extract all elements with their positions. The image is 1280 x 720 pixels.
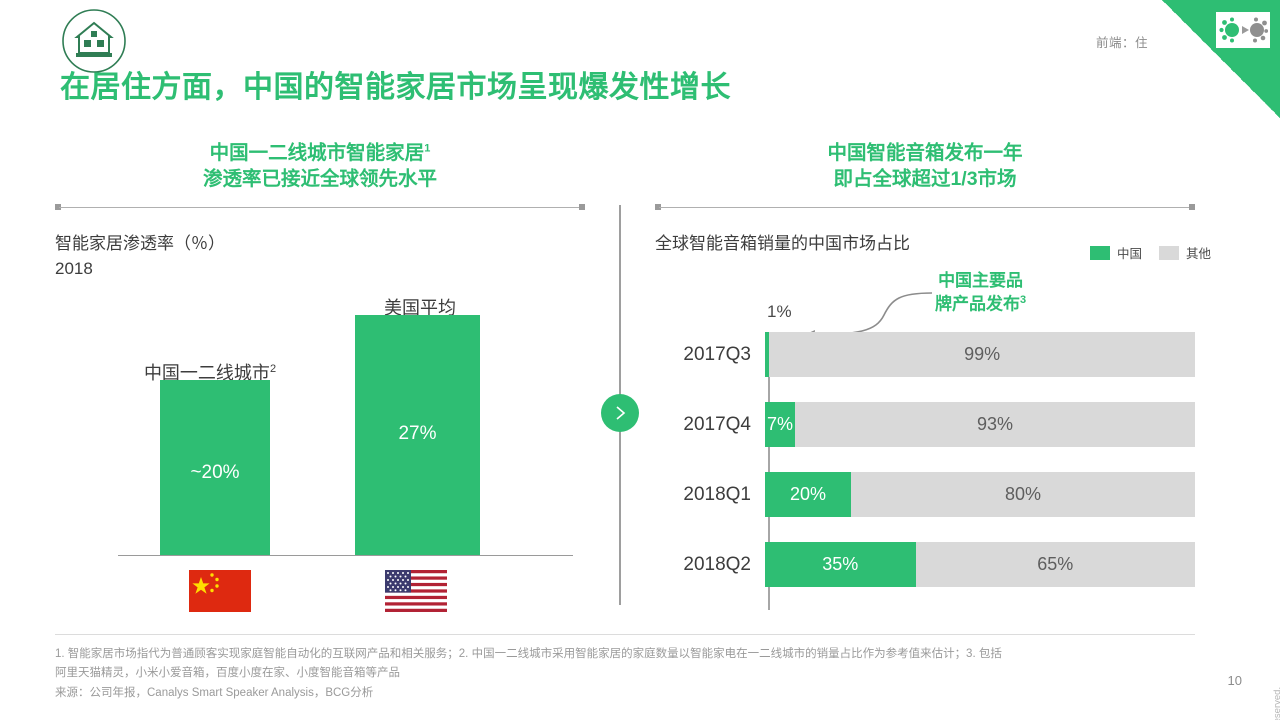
footnote-divider <box>55 634 1195 635</box>
panel-left-subtitle-line1: 智能家居渗透率（％） <box>55 231 585 257</box>
legend-swatch-other <box>1159 246 1179 260</box>
column-bar-china: ~20% <box>160 380 270 555</box>
divider-line <box>59 207 581 208</box>
page-number: 10 <box>1228 673 1242 688</box>
column-chart-axis <box>118 555 573 556</box>
footnote-line2: 阿里天猫精灵，小米小爱音箱，百度小度在家、小度智能音箱等产品 <box>55 664 1180 683</box>
bcg-logo <box>1216 12 1270 48</box>
table-row: 2017Q3 99% <box>655 332 1195 377</box>
bar-track: 99% <box>765 332 1195 377</box>
bar-segment-other: 99% <box>769 332 1195 377</box>
column-chart: 中国一二线城市2 ~20% 美国平均 27% <box>55 255 585 620</box>
panel-left-heading-sup: 1 <box>424 143 430 155</box>
bar-value-china-2017q3: 1% <box>767 302 792 322</box>
bar-track: 20% 80% <box>765 472 1195 517</box>
divider-line <box>659 207 1191 208</box>
footnote-source: 来源：公司年报，Canalys Smart Speaker Analysis，B… <box>55 684 1180 703</box>
bar-category-2017q3: 2017Q3 <box>655 344 765 366</box>
bar-segment-other: 93% <box>795 402 1195 447</box>
bar-track: 7% 93% <box>765 402 1195 447</box>
bar-category-2018q1: 2018Q1 <box>655 484 765 506</box>
legend-label-other: 其他 <box>1186 243 1211 262</box>
china-flag <box>189 570 251 612</box>
panel-right-divider <box>655 204 1195 211</box>
column-bar-value-usa: 27% <box>355 423 480 445</box>
slide-root: 前端：住 在居住方面，中国的智能家居市场呈现爆发性增长 中国一二线城市智能家居1… <box>0 0 1280 720</box>
panel-left-heading-line2: 渗透率已接近全球领先水平 <box>55 166 585 192</box>
table-row: 2017Q4 7% 93% <box>655 402 1195 447</box>
panel-left-divider <box>55 204 585 211</box>
bar-track: 35% 65% <box>765 542 1195 587</box>
legend-swatch-china <box>1090 246 1110 260</box>
panel-left-heading: 中国一二线城市智能家居1 渗透率已接近全球领先水平 <box>55 140 585 193</box>
footnote-line1: 1. 智能家居市场指代为普通顾客实现家庭智能自动化的互联网产品和相关服务；2. … <box>55 645 1180 664</box>
legend-label-china: 中国 <box>1117 243 1142 262</box>
panel-right-heading-line2: 即占全球超过1/3市场 <box>655 166 1195 192</box>
bar-segment-china: 7% <box>765 402 795 447</box>
table-row: 2018Q1 20% 80% <box>655 472 1195 517</box>
chart-legend: 中国 其他 <box>1090 243 1221 262</box>
header-tag: 前端：住 <box>1096 32 1148 51</box>
divider-dot-right <box>1189 204 1195 210</box>
bar-category-2018q2: 2018Q2 <box>655 554 765 576</box>
page-title: 在居住方面，中国的智能家居市场呈现爆发性增长 <box>60 62 731 106</box>
bar-segment-other: 65% <box>916 542 1196 587</box>
panel-left-heading-line1: 中国一二线城市智能家居 <box>210 142 425 164</box>
chevron-right-icon <box>601 394 639 432</box>
bar-segment-china: 35% <box>765 542 916 587</box>
copyright-text: Copyright © 2019 by Boston Consulting Gr… <box>1272 687 1280 720</box>
footnotes: 1. 智能家居市场指代为普通顾客实现家庭智能自动化的互联网产品和相关服务；2. … <box>55 645 1180 703</box>
table-row: 2018Q2 35% 65% <box>655 542 1195 587</box>
panel-right-heading: 中国智能音箱发布一年 即占全球超过1/3市场 <box>655 140 1195 193</box>
column-bar-usa: 27% <box>355 315 480 555</box>
panel-right: 中国智能音箱发布一年 即占全球超过1/3市场 全球智能音箱销量的中国市场占比 <box>655 140 1195 256</box>
column-bar-value-china: ~20% <box>160 462 270 484</box>
bar-segment-china: 20% <box>765 472 851 517</box>
panel-right-heading-line1: 中国智能音箱发布一年 <box>655 140 1195 166</box>
divider-dot-right <box>579 204 585 210</box>
bar-category-2017q4: 2017Q4 <box>655 414 765 436</box>
bar-segment-other: 80% <box>851 472 1195 517</box>
usa-flag <box>385 570 447 612</box>
stacked-bar-chart: 1% 2017Q3 99% 2017Q4 7% 93% 2018Q1 20% 8… <box>655 290 1195 615</box>
